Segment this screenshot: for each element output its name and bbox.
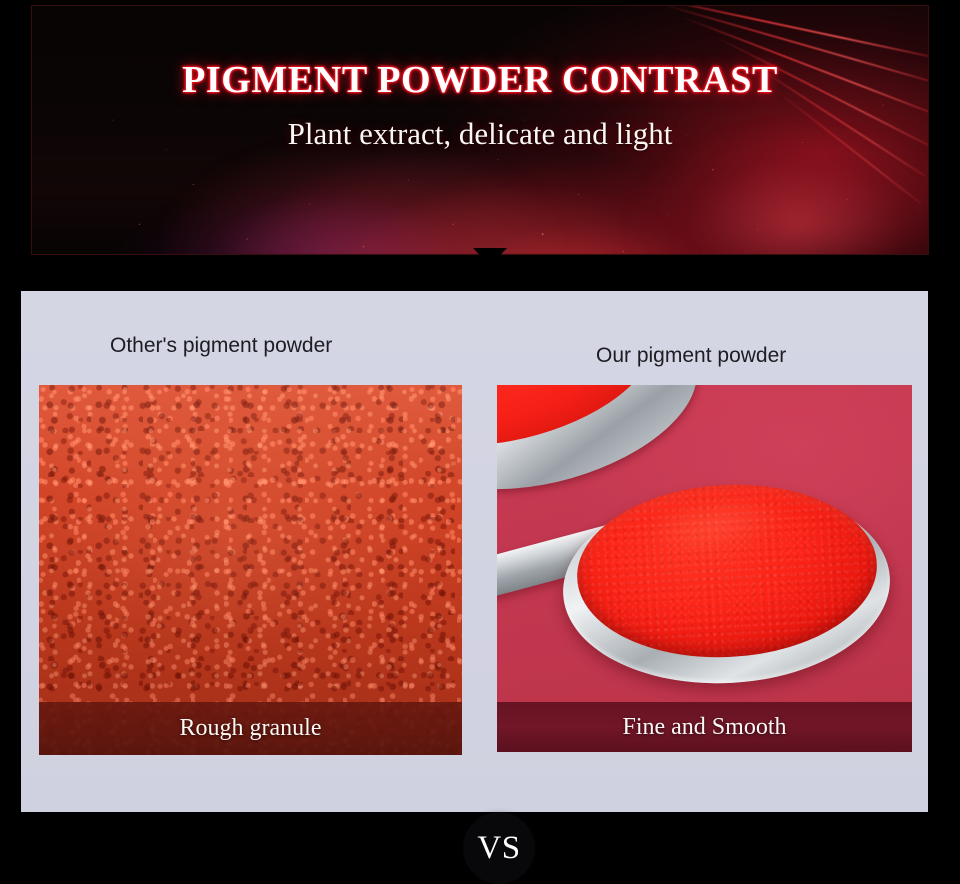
- page-subtitle: Plant extract, delicate and light: [288, 116, 673, 152]
- hero-banner: PIGMENT POWDER CONTRAST Plant extract, d…: [31, 5, 929, 255]
- photo-our-pigment-powder: Fine and Smooth: [497, 385, 912, 752]
- page-title: PIGMENT POWDER CONTRAST: [182, 58, 778, 102]
- column-heading-our: Our pigment powder: [596, 344, 786, 368]
- caption-rough-granule: Rough granule: [39, 702, 462, 755]
- comparison-panel: Other's pigment powder Our pigment powde…: [21, 291, 928, 812]
- hero-text-block: PIGMENT POWDER CONTRAST Plant extract, d…: [32, 6, 928, 254]
- column-heading-other: Other's pigment powder: [110, 334, 332, 358]
- hero-bottom-gap: [31, 255, 929, 269]
- coarse-powder-shading: [39, 385, 462, 755]
- photo-other-pigment-powder: Rough granule: [39, 385, 462, 755]
- vs-badge: VS: [463, 812, 535, 884]
- caption-fine-and-smooth: Fine and Smooth: [497, 702, 912, 752]
